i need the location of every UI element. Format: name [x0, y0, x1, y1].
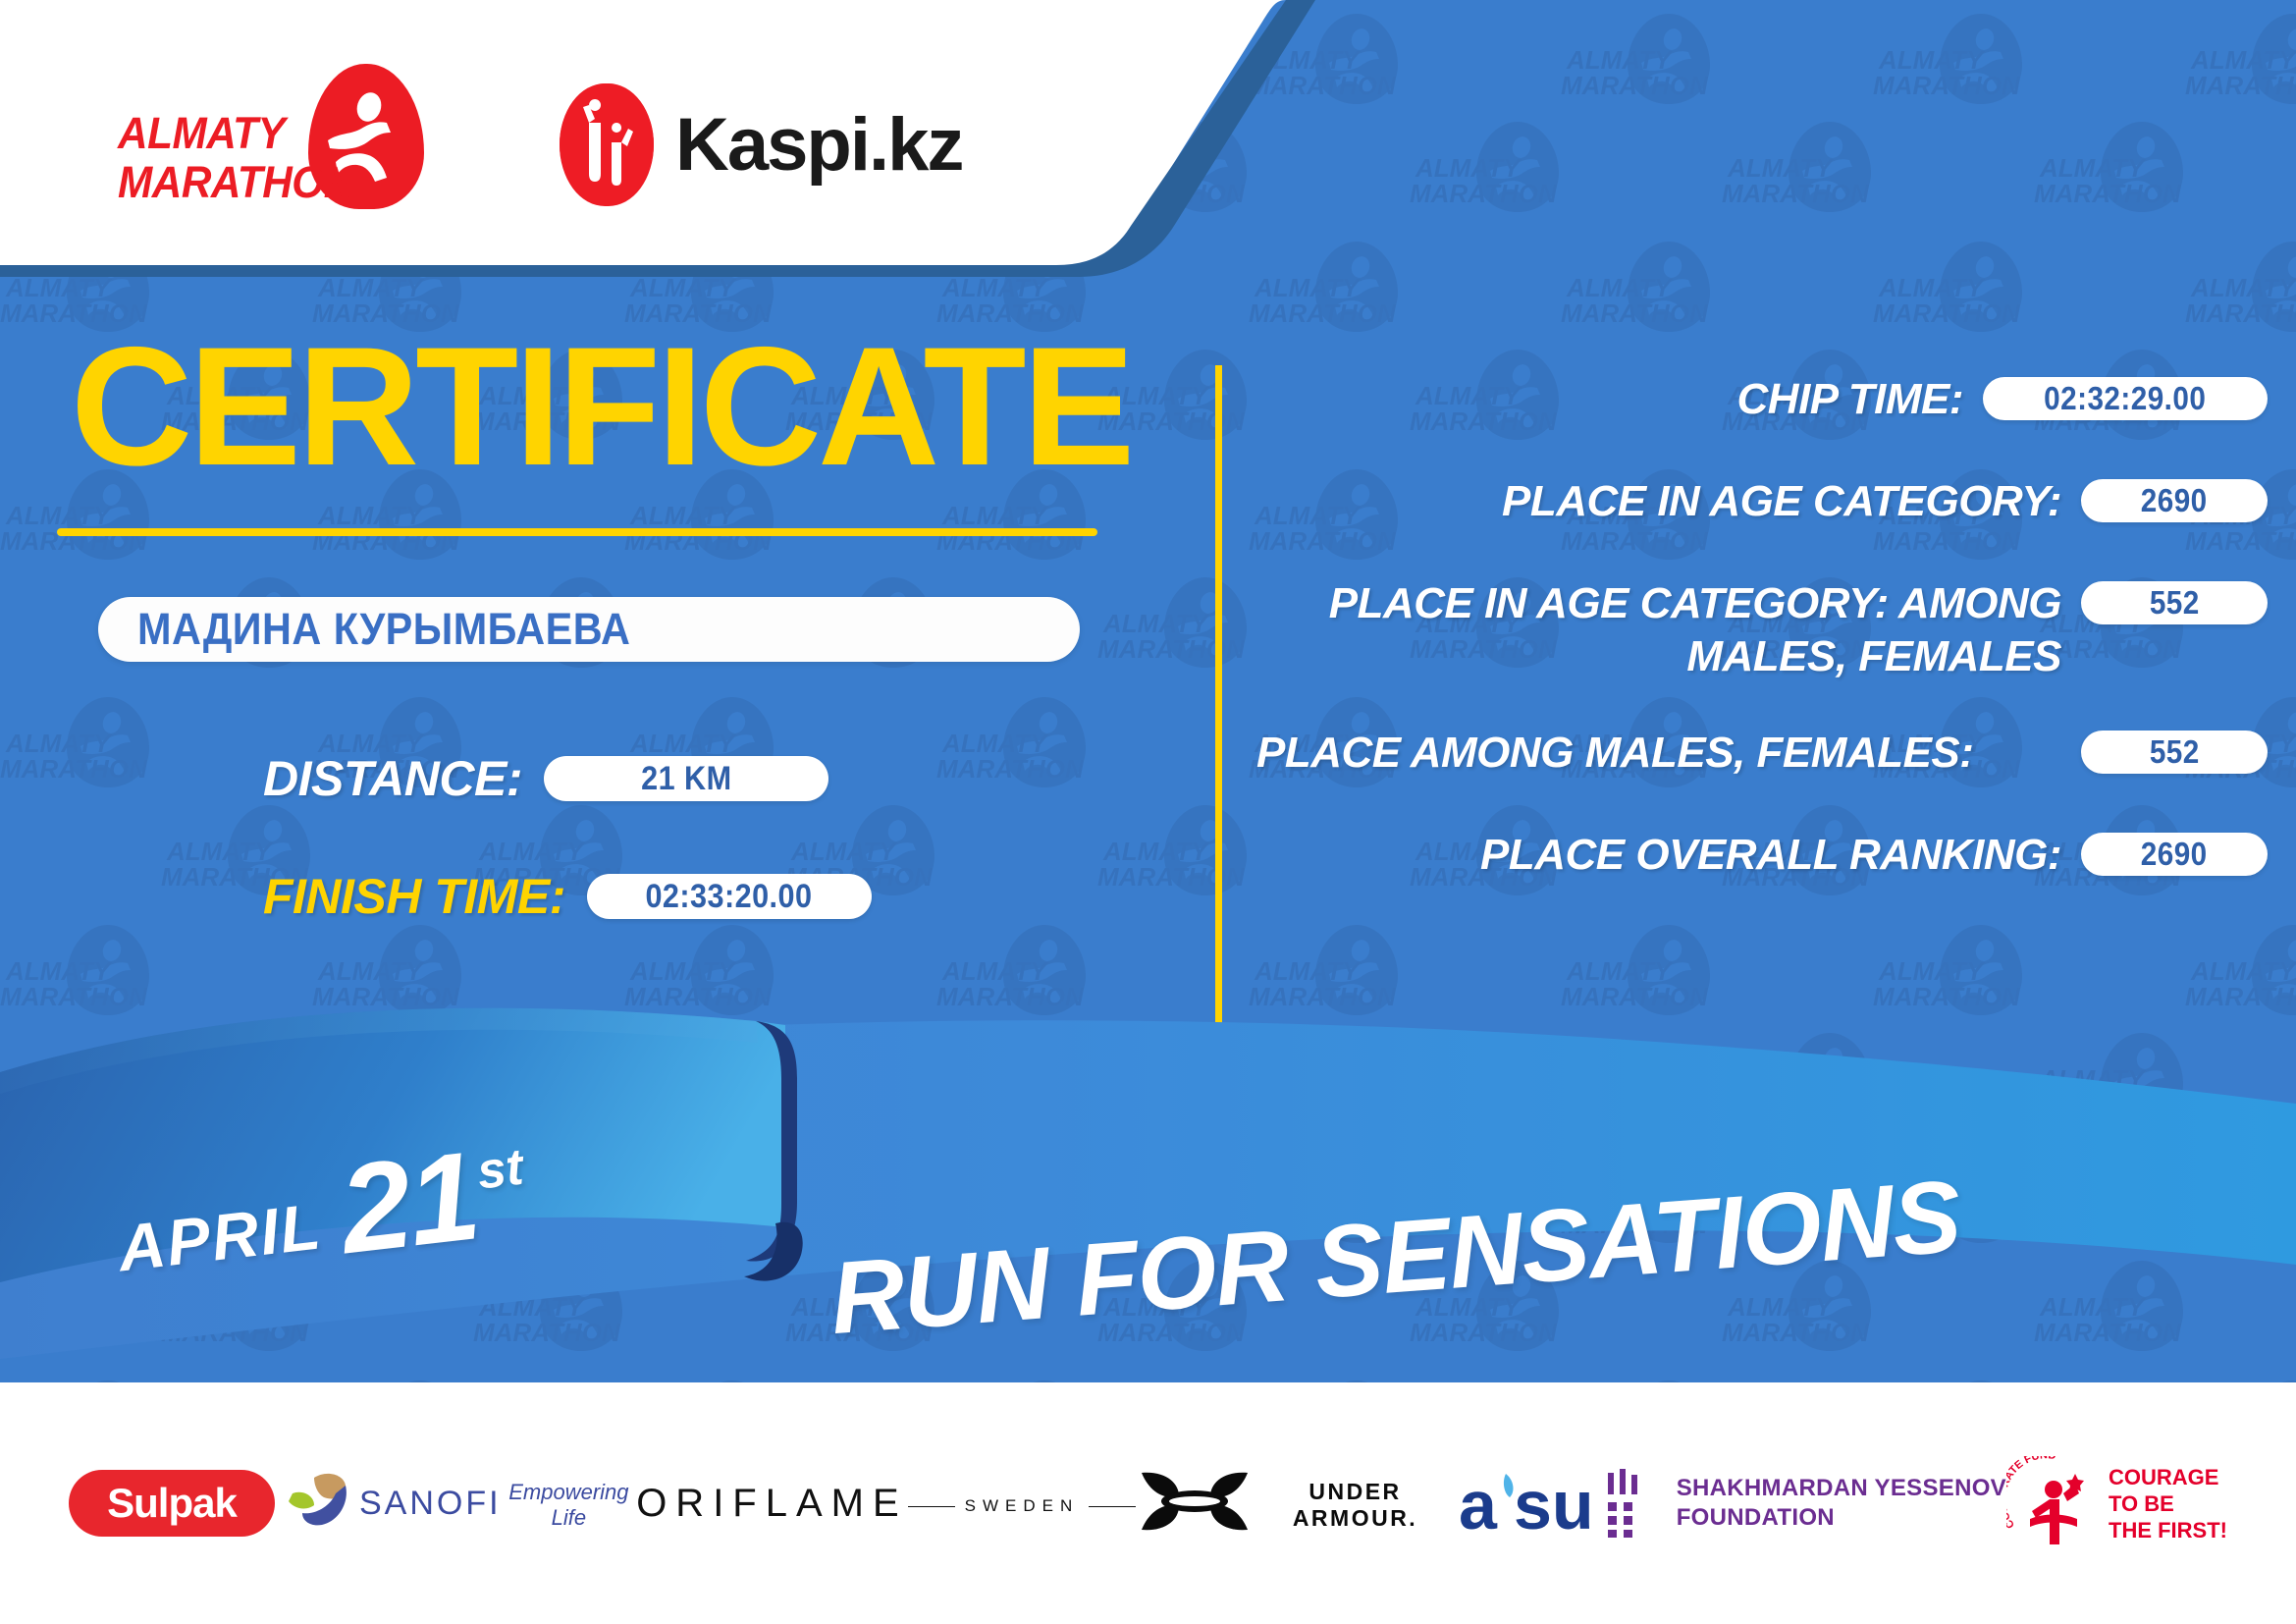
result-row-place-among-gender: PLACE AMONG MALES, FEMALES: 552 — [1256, 727, 2268, 785]
place-among-gender-pill: 552 — [2081, 731, 2268, 774]
place-age-category-gender-value: 552 — [2150, 584, 2200, 622]
distance-pill: 21 KM — [544, 756, 828, 801]
place-age-category-gender-label: PLACE IN AGE CATEGORY: AMONG MALES, FEMA… — [1256, 577, 2081, 683]
results-column: CHIP TIME: 02:32:29.00 PLACE IN AGE CATE… — [1256, 373, 2268, 931]
distance-value: 21 KM — [641, 760, 731, 798]
oriflame-wordmark: ORIFLAME — [636, 1482, 907, 1526]
sponsor-strip: Sulpak SANOFI Empowering Life ORIFLAME S… — [0, 1382, 2296, 1624]
title-underline — [57, 528, 1097, 536]
svg-text:a: a — [1459, 1467, 1498, 1543]
distance-row: DISTANCE: 21 KM — [263, 750, 1178, 807]
sponsor-sanofi: SANOFI Empowering Life — [275, 1472, 636, 1535]
place-age-category-label: PLACE IN AGE CATEGORY: — [1256, 475, 2081, 528]
almaty-marathon-logo: ALMATY MARATHON — [118, 72, 442, 219]
oriflame-rule-right — [1089, 1506, 1136, 1507]
sponsor-sulpak: Sulpak — [69, 1470, 275, 1537]
finish-time-value: 02:33:20.00 — [646, 878, 813, 916]
marathon-logo-line2: MARATHON — [118, 158, 335, 207]
place-age-category-pill: 2690 — [2081, 479, 2268, 522]
sponsor-oriflame: ORIFLAME SWEDEN — [636, 1482, 1136, 1526]
finish-time-row: FINISH TIME: 02:33:20.00 — [263, 868, 1178, 925]
under-armour-icon — [1136, 1467, 1254, 1541]
sanofi-tagline: Empowering Life — [502, 1480, 637, 1531]
place-overall-label: PLACE OVERALL RANKING: — [1256, 829, 2081, 882]
sanofi-wordmark: SANOFI — [359, 1485, 502, 1523]
sponsor-courage-fund: CORPORATE FUND COURAGE TO BE THE FIRST! — [2006, 1456, 2227, 1550]
place-age-category-gender-pill: 552 — [2081, 581, 2268, 624]
result-row-place-age-category: PLACE IN AGE CATEGORY: 2690 — [1256, 475, 2268, 534]
header-logos: ALMATY MARATHON Kaspi.kz — [0, 0, 1178, 290]
result-row-chip-time: CHIP TIME: 02:32:29.00 — [1256, 373, 2268, 432]
courage-line1: COURAGE — [2109, 1464, 2227, 1490]
finish-time-label: FINISH TIME: — [263, 868, 565, 925]
kaspi-person-icon — [560, 83, 654, 206]
chip-time-pill: 02:32:29.00 — [1983, 377, 2268, 420]
athlete-name-value: МАДИНА КУРЫМБАЕВА — [137, 604, 630, 655]
oriflame-country: SWEDEN — [965, 1496, 1080, 1516]
almaty-marathon-wordmark: ALMATY MARATHON — [118, 109, 335, 207]
sulpak-wordmark: Sulpak — [107, 1480, 237, 1527]
marathon-logo-line1: ALMATY — [118, 109, 335, 158]
sponsor-under-armour: UNDER ARMOUR. — [1136, 1467, 1456, 1541]
under-armour-wordmark: UNDER ARMOUR. — [1254, 1479, 1456, 1532]
chip-time-value: 02:32:29.00 — [2044, 380, 2206, 417]
svg-text:su: su — [1514, 1467, 1594, 1543]
finish-time-pill: 02:33:20.00 — [587, 874, 872, 919]
sponsor-asu: a su — [1457, 1464, 1604, 1543]
yessenov-foundation-icon — [1604, 1469, 1659, 1538]
distance-label: DISTANCE: — [263, 750, 522, 807]
chip-time-label: CHIP TIME: — [1256, 373, 1983, 426]
kaspi-wordmark: Kaspi.kz — [675, 102, 962, 188]
oriflame-subline: SWEDEN — [908, 1496, 1137, 1516]
courage-fund-wordmark: COURAGE TO BE THE FIRST! — [2109, 1464, 2227, 1543]
sulpak-logo: Sulpak — [69, 1470, 275, 1537]
place-overall-value: 2690 — [2141, 836, 2208, 873]
kaspi-logo: Kaspi.kz — [560, 83, 962, 206]
courage-line2: TO BE — [2109, 1490, 2227, 1517]
asu-logo-icon: a su — [1457, 1464, 1604, 1543]
courage-line3: THE FIRST! — [2109, 1517, 2227, 1543]
certificate-canvas: ALMATY MARATHON Kaspi.kz CERTIFICATE — [0, 0, 2296, 1624]
page-title: CERTIFICATE — [71, 324, 1178, 489]
yessenov-line1: SHAKHMARDAN YESSENOV — [1677, 1474, 2006, 1503]
place-among-gender-value: 552 — [2150, 733, 2200, 771]
yessenov-wordmark: SHAKHMARDAN YESSENOV FOUNDATION — [1677, 1474, 2006, 1533]
sponsor-yessenov-foundation: SHAKHMARDAN YESSENOV FOUNDATION — [1604, 1469, 2006, 1538]
place-age-category-value: 2690 — [2141, 482, 2208, 519]
courage-fund-icon: CORPORATE FUND — [2006, 1456, 2097, 1550]
athlete-name-field: МАДИНА КУРЫМБАЕВА — [98, 597, 1080, 662]
yessenov-line2: FOUNDATION — [1677, 1503, 2006, 1533]
place-among-gender-label: PLACE AMONG MALES, FEMALES: — [1256, 727, 2081, 780]
result-row-place-age-category-gender: PLACE IN AGE CATEGORY: AMONG MALES, FEMA… — [1256, 577, 2268, 683]
sanofi-logo-icon — [275, 1472, 359, 1529]
place-overall-pill: 2690 — [2081, 833, 2268, 876]
race-day: 21 — [335, 1133, 484, 1273]
left-column: CERTIFICATE МАДИНА КУРЫМБАЕВА DISTANCE: … — [0, 324, 1178, 925]
result-row-place-overall: PLACE OVERALL RANKING: 2690 — [1256, 829, 2268, 888]
oriflame-rule-left — [908, 1506, 955, 1507]
